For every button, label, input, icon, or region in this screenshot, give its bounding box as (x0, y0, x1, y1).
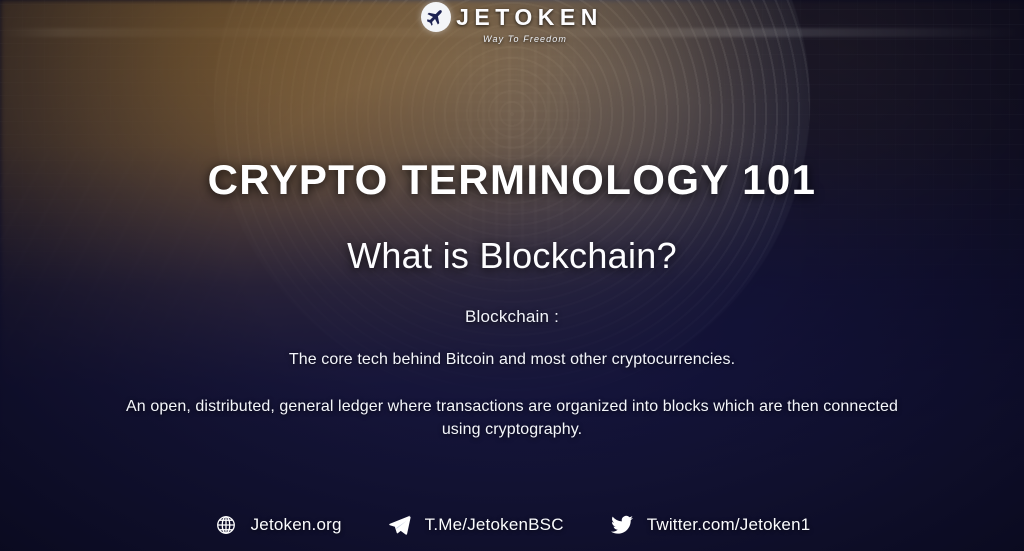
slide-content: JETOKEN Way To Freedom CRYPTO TERMINOLOG… (0, 0, 1024, 551)
brand-name: JETOKEN (456, 6, 603, 29)
footer-label-twitter: Twitter.com/Jetoken1 (647, 515, 811, 535)
definition-line-1: The core tech behind Bitcoin and most ot… (0, 351, 1024, 369)
jet-plane-icon (421, 2, 451, 32)
twitter-icon (610, 513, 634, 537)
telegram-icon (388, 513, 412, 537)
term-label: Blockchain : (0, 307, 1024, 327)
slide-title: CRYPTO TERMINOLOGY 101 (0, 156, 1024, 204)
brand-tagline: Way To Freedom (483, 34, 567, 44)
footer-link-website[interactable]: Jetoken.org (214, 513, 342, 537)
footer-links: Jetoken.org T.Me/JetokenBSC Twitter (0, 513, 1024, 537)
globe-icon (214, 513, 238, 537)
footer-label-telegram: T.Me/JetokenBSC (425, 515, 564, 535)
footer-link-telegram[interactable]: T.Me/JetokenBSC (388, 513, 564, 537)
footer-link-twitter[interactable]: Twitter.com/Jetoken1 (610, 513, 811, 537)
brand-logo-row: JETOKEN (421, 2, 603, 32)
brand-logo: JETOKEN Way To Freedom (0, 2, 1024, 44)
definition-line-2: An open, distributed, general ledger whe… (122, 395, 902, 441)
slide-subtitle: What is Blockchain? (0, 235, 1024, 277)
footer-label-website: Jetoken.org (251, 515, 342, 535)
slide-canvas: JETOKEN Way To Freedom CRYPTO TERMINOLOG… (0, 0, 1024, 551)
definition-block: Blockchain : The core tech behind Bitcoi… (0, 307, 1024, 441)
